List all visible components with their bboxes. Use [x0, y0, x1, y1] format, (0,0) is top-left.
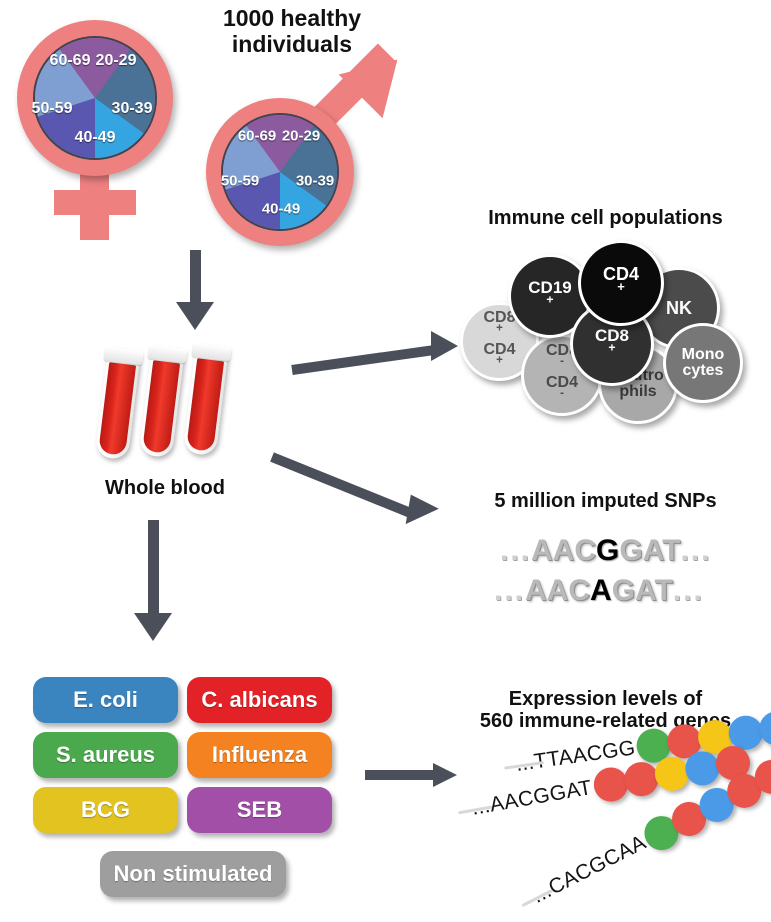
stimulus-label: Non stimulated: [114, 861, 273, 887]
figure-canvas: 1000 healthy individuals 20-29 30-39 40-…: [0, 0, 771, 922]
stimulus-influenza[interactable]: Influenza: [187, 732, 332, 778]
snp-variant: G: [596, 534, 619, 567]
snp-prefix: ...: [494, 574, 525, 607]
cell-label-line2: CD4+: [483, 342, 515, 374]
pie-label-20-29: 20-29: [282, 128, 320, 145]
immune-cell-cluster: CD8+ CD4+ CD19+ CD8- CD4- CD4+ CD8+ Neut…: [460, 240, 760, 420]
snp-suffix: ...: [673, 574, 704, 607]
snps-title: 5 million imputed SNPs: [440, 490, 771, 512]
snp-suffix: ...: [680, 534, 711, 567]
stimulus-label: C. albicans: [201, 687, 317, 713]
snp-prefix: ...: [500, 534, 531, 567]
stimulus-label: SEB: [237, 797, 282, 823]
pie-label-50-59: 50-59: [32, 100, 73, 118]
snp-sequence-row: ...AACAGAT...: [494, 574, 704, 608]
stimulus-non-stimulated[interactable]: Non stimulated: [100, 851, 286, 897]
snp-right: GAT: [619, 534, 680, 567]
pie-label-40-49: 40-49: [262, 201, 300, 218]
pie-label-40-49: 40-49: [75, 129, 116, 147]
blood-tube: [183, 343, 229, 456]
whole-blood-label: Whole blood: [80, 477, 250, 499]
cell-label-line2: phils: [612, 384, 664, 400]
cohort-title-line1: 1000 healthy: [178, 6, 406, 32]
cell-label-line1: NK: [666, 299, 692, 317]
blood-tube: [139, 345, 185, 458]
pie-label-20-29: 20-29: [96, 52, 137, 70]
stimulus-e-coli[interactable]: E. coli: [33, 677, 178, 723]
stimulus-label: E. coli: [73, 687, 138, 713]
cell-label-line2: cytes: [682, 363, 725, 379]
female-stem-horizontal: [54, 190, 136, 215]
blood-tube: [95, 347, 141, 460]
cell-label-line1: CD8+: [483, 310, 515, 342]
stimulus-label: Influenza: [212, 742, 307, 768]
gene-sequence: ...AACGGAT: [470, 776, 594, 821]
male-symbol: 20-29 30-39 40-49 50-59 60-69: [196, 58, 426, 248]
expression-title-line1: Expression levels of: [440, 688, 771, 710]
snp-sequence-row: ...AACGGAT...: [500, 534, 711, 568]
cell-label-line1: CD19+: [528, 279, 571, 313]
cell-label-line1: CD8+: [595, 327, 629, 361]
stimulus-s-aureus[interactable]: S. aureus: [33, 732, 178, 778]
snp-variant: A: [590, 574, 612, 607]
pie-label-60-69: 60-69: [50, 52, 91, 70]
stimulus-seb[interactable]: SEB: [187, 787, 332, 833]
pie-label-30-39: 30-39: [296, 173, 334, 190]
cell-label-line2: CD4-: [546, 375, 578, 407]
pie-label-60-69: 60-69: [238, 128, 276, 145]
snp-left: AAC: [525, 574, 590, 607]
stimulus-label: BCG: [81, 797, 130, 823]
immune-cell-monocytes: Mono cytes: [663, 323, 743, 403]
stimulus-bcg[interactable]: BCG: [33, 787, 178, 833]
cell-label-line1: Mono: [682, 347, 725, 363]
pie-label-50-59: 50-59: [221, 173, 259, 190]
snp-left: AAC: [531, 534, 596, 567]
blood-tubes: [100, 345, 260, 475]
snp-right: GAT: [612, 574, 673, 607]
immune-title: Immune cell populations: [440, 207, 771, 229]
stimulus-c-albicans[interactable]: C. albicans: [187, 677, 332, 723]
gene-sequence: ...CACGCAA: [529, 831, 651, 909]
cell-label-line1: CD4+: [603, 265, 639, 301]
immune-cell-cd4: CD4+: [578, 240, 664, 326]
female-symbol: 20-29 30-39 40-49 50-59 60-69: [8, 10, 198, 240]
stimulus-label: S. aureus: [56, 742, 155, 768]
pie-label-30-39: 30-39: [112, 100, 153, 118]
